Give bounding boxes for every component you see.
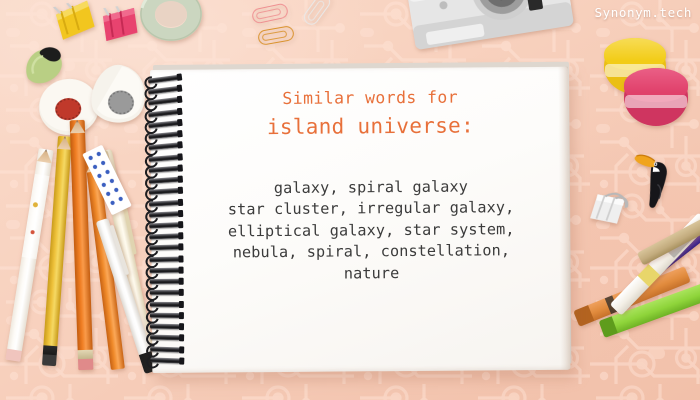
watermark: Synonym.tech bbox=[594, 5, 692, 20]
notepad-content: Similar words for island universe: galax… bbox=[184, 89, 558, 286]
spiral-binding bbox=[142, 76, 190, 368]
spiral-coil bbox=[144, 300, 184, 307]
spiral-coil bbox=[144, 334, 184, 342]
spiral-coil bbox=[143, 244, 183, 252]
notepad: Similar words for island universe: galax… bbox=[150, 67, 572, 376]
spiral-coil bbox=[142, 85, 183, 97]
heading-line-2: island universe: bbox=[184, 114, 556, 138]
spiral-coil bbox=[142, 142, 182, 153]
spiral-coil bbox=[144, 312, 184, 319]
synonym-line: elliptical galaxy, star system, bbox=[185, 218, 557, 242]
spiral-coil bbox=[144, 356, 184, 365]
pencil-white-eraser bbox=[5, 349, 22, 362]
synonym-line: galaxy, spiral galaxy bbox=[185, 175, 557, 199]
synonym-line: nebula, spiral, constellation, bbox=[185, 240, 557, 264]
screenshot-root: Similar words for island universe: galax… bbox=[0, 0, 700, 400]
heading-line-1: Similar words for bbox=[184, 89, 556, 108]
spiral-coil bbox=[142, 96, 183, 108]
spiral-coil bbox=[142, 73, 183, 85]
spiral-coil bbox=[143, 255, 183, 263]
spiral-coil bbox=[143, 176, 183, 186]
macaron-pink-filling bbox=[625, 95, 686, 108]
synonym-line: star cluster, irregular galaxy, bbox=[185, 197, 557, 221]
pencil-orange-a-eraser bbox=[78, 359, 93, 371]
synonym-line: nature bbox=[186, 261, 558, 285]
spiral-coil bbox=[142, 153, 182, 163]
spiral-coil bbox=[143, 232, 183, 240]
spiral-coil bbox=[143, 164, 183, 174]
spiral-coil bbox=[144, 278, 184, 285]
spiral-coil bbox=[144, 323, 184, 331]
spiral-coil bbox=[142, 119, 183, 130]
synonym-list: galaxy, spiral galaxystar cluster, irreg… bbox=[185, 175, 558, 285]
spiral-coil bbox=[144, 345, 184, 353]
spiral-coil bbox=[144, 267, 184, 275]
spiral-coil bbox=[143, 221, 183, 230]
spiral-coil bbox=[143, 210, 183, 219]
binder-clip-pink bbox=[98, 3, 142, 42]
spiral-coil bbox=[143, 198, 183, 207]
spiral-coil bbox=[142, 130, 182, 141]
washi-tape-roll-mint bbox=[138, 0, 204, 42]
spiral-coil bbox=[143, 187, 183, 196]
spiral-coil bbox=[144, 289, 184, 296]
pencil-yellow-eraser bbox=[42, 354, 57, 366]
macaron-pink bbox=[624, 68, 688, 126]
